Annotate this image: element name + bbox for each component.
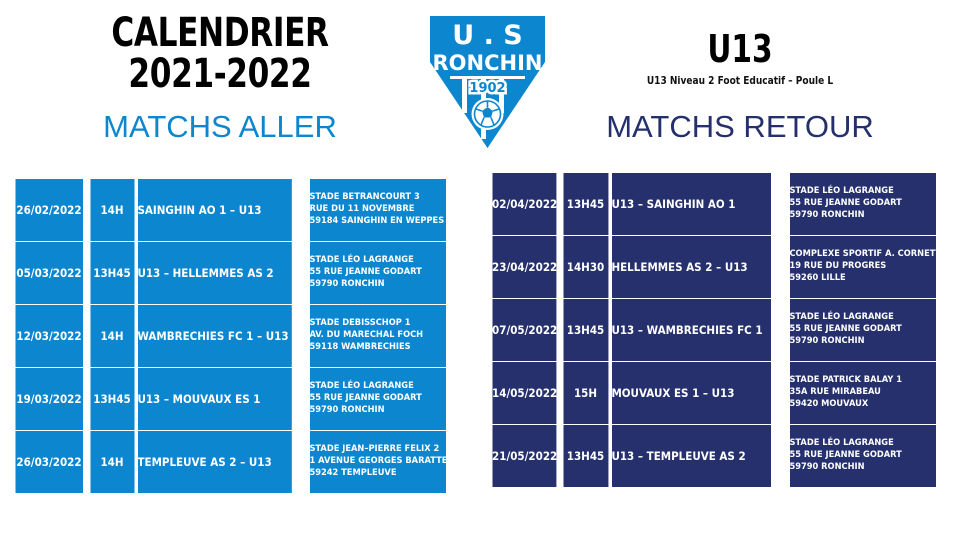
matchs-aller-table: 26/02/202214HSAINGHIN AO 1 – U13STADE BE… [10, 178, 458, 494]
match-time: 14H30 [562, 236, 608, 299]
match-fixture: U13 – TEMPLEUVE AS 2 [611, 425, 771, 488]
match-venue: STADE PATRICK BALAY 135A RUE MIRABEAU594… [789, 362, 936, 425]
match-venue: STADE BETRANCOURT 3RUE DU 11 NOVEMBRE591… [309, 179, 446, 242]
match-venue: STADE LÉO LAGRANGE55 RUE JEANNE GODART59… [789, 425, 936, 488]
match-venue: STADE DEBISSCHOP 1AV. DU MARECHAL FOCH59… [309, 305, 446, 368]
venue-line: STADE PATRICK BALAY 1 [789, 375, 935, 387]
match-date: 21/05/2022 [491, 425, 556, 488]
venue-line: 55 RUE JEANNE GODART [789, 450, 935, 462]
match-venue: STADE LÉO LAGRANGE55 RUE JEANNE GODART59… [789, 173, 936, 236]
match-venue: STADE LÉO LAGRANGE55 RUE JEANNE GODART59… [789, 299, 936, 362]
venue-line: 59184 SAINGHIN EN WEPPES [309, 216, 445, 228]
venue-line: STADE LÉO LAGRANGE [789, 312, 935, 324]
left-header-block: CALENDRIER 2021-2022 MATCHS ALLER [10, 14, 430, 145]
venue-line: STADE LÉO LAGRANGE [309, 381, 445, 393]
section-heading-retour: MATCHS RETOUR [530, 109, 950, 145]
venue-line: 35A RUE MIRABEAU [789, 387, 935, 399]
match-fixture: HELLEMMES AS 2 – U13 [611, 236, 771, 299]
right-header-block: U13 U13 Niveau 2 Foot Educatif – Poule L… [530, 30, 950, 145]
venue-line: STADE JEAN–PIERRE FELIX 2 [309, 444, 445, 456]
match-fixture: SAINGHIN AO 1 – U13 [137, 179, 292, 242]
venue-line: 59242 TEMPLEUVE [309, 468, 445, 480]
matchs-aller-body: 26/02/202214HSAINGHIN AO 1 – U13STADE BE… [11, 179, 458, 494]
match-date: 26/02/2022 [14, 179, 82, 242]
table-row: 26/02/202214HSAINGHIN AO 1 – U13STADE BE… [11, 179, 458, 242]
svg-text:RONCHIN: RONCHIN [433, 51, 543, 75]
page-header: CALENDRIER 2021-2022 MATCHS ALLER U . S … [0, 0, 960, 175]
table-row: 21/05/202213H45U13 – TEMPLEUVE AS 2STADE… [488, 425, 949, 488]
match-date: 05/03/2022 [14, 242, 82, 305]
match-time: 15H [562, 362, 608, 425]
match-time: 13H45 [89, 242, 134, 305]
svg-text:U . S: U . S [452, 20, 522, 51]
table-row: 07/05/202213H45U13 – WAMBRECHIES FC 1STA… [488, 299, 949, 362]
match-time: 13H45 [562, 173, 608, 236]
table-row: 02/04/202213H45U13 – SAINGHIN AO 1STADE … [488, 173, 949, 236]
venue-line: STADE BETRANCOURT 3 [309, 192, 445, 204]
venue-line: AV. DU MARECHAL FOCH [309, 330, 445, 342]
table-row: 14/05/202215HMOUVAUX ES 1 – U13STADE PAT… [488, 362, 949, 425]
match-fixture: U13 – HELLEMMES AS 2 [137, 242, 292, 305]
matchs-retour-body: 02/04/202213H45U13 – SAINGHIN AO 1STADE … [488, 173, 949, 488]
match-date: 02/04/2022 [491, 173, 556, 236]
match-fixture: MOUVAUX ES 1 – U13 [611, 362, 771, 425]
venue-line: 59118 WAMBRECHIES [309, 342, 445, 354]
match-time: 13H45 [89, 368, 134, 431]
table-row: 05/03/202213H45U13 – HELLEMMES AS 2STADE… [11, 242, 458, 305]
soccer-ball-icon [472, 98, 504, 130]
svg-text:1902: 1902 [469, 81, 505, 96]
venue-line: STADE LÉO LAGRANGE [789, 186, 935, 198]
venue-line: 59790 RONCHIN [789, 210, 935, 222]
venue-line: 55 RUE JEANNE GODART [789, 198, 935, 210]
venue-line: 59790 RONCHIN [309, 405, 445, 417]
match-venue: STADE LÉO LAGRANGE55 RUE JEANNE GODART59… [309, 368, 446, 431]
venue-line: RUE DU 11 NOVEMBRE [309, 204, 445, 216]
match-date: 23/04/2022 [491, 236, 556, 299]
venue-line: 55 RUE JEANNE GODART [309, 393, 445, 405]
venue-line: STADE LÉO LAGRANGE [309, 255, 445, 267]
match-date: 07/05/2022 [491, 299, 556, 362]
venue-line: 59790 RONCHIN [789, 462, 935, 474]
match-fixture: U13 – SAINGHIN AO 1 [611, 173, 771, 236]
venue-line: 59790 RONCHIN [789, 336, 935, 348]
venue-line: STADE DEBISSCHOP 1 [309, 318, 445, 330]
match-time: 14H [89, 431, 134, 494]
match-date: 26/03/2022 [14, 431, 82, 494]
match-date: 14/05/2022 [491, 362, 556, 425]
venue-line: 55 RUE JEANNE GODART [309, 267, 445, 279]
table-row: 19/03/202213H45U13 – MOUVAUX ES 1STADE L… [11, 368, 458, 431]
match-venue: COMPLEXE SPORTIF A. CORNETTE 219 RUE DU … [789, 236, 936, 299]
match-venue: STADE LÉO LAGRANGE55 RUE JEANNE GODART59… [309, 242, 446, 305]
matchs-retour-table: 02/04/202213H45U13 – SAINGHIN AO 1STADE … [487, 172, 949, 488]
venue-line: 55 RUE JEANNE GODART [789, 324, 935, 336]
match-venue: STADE JEAN–PIERRE FELIX 21 AVENUE GEORGE… [309, 431, 446, 494]
venue-line: STADE LÉO LAGRANGE [789, 438, 935, 450]
match-date: 12/03/2022 [14, 305, 82, 368]
match-time: 14H [89, 305, 134, 368]
table-row: 26/03/202214HTEMPLEUVE AS 2 – U13STADE J… [11, 431, 458, 494]
category-subtitle: U13 Niveau 2 Foot Educatif – Poule L [568, 74, 912, 87]
match-time: 13H45 [562, 299, 608, 362]
logo-year: 1902 [469, 81, 505, 96]
category-title: U13 [576, 30, 904, 68]
match-fixture: U13 – WAMBRECHIES FC 1 [611, 299, 771, 362]
page-title-season: 2021-2022 [56, 53, 384, 95]
match-fixture: U13 – MOUVAUX ES 1 [137, 368, 292, 431]
match-fixture: TEMPLEUVE AS 2 – U13 [137, 431, 292, 494]
venue-line: 19 RUE DU PROGRES [789, 261, 935, 273]
match-fixture: WAMBRECHIES FC 1 – U13 [137, 305, 292, 368]
table-row: 23/04/202214H30HELLEMMES AS 2 – U13COMPL… [488, 236, 949, 299]
venue-line: 1 AVENUE GEORGES BARATTE [309, 456, 445, 468]
table-row: 12/03/202214HWAMBRECHIES FC 1 – U13STADE… [11, 305, 458, 368]
match-time: 14H [89, 179, 134, 242]
match-date: 19/03/2022 [14, 368, 82, 431]
venue-line: COMPLEXE SPORTIF A. CORNETTE 2 [789, 249, 935, 261]
match-time: 13H45 [562, 425, 608, 488]
section-heading-aller: MATCHS ALLER [10, 109, 430, 145]
venue-line: 59260 LILLE [789, 273, 935, 285]
venue-line: 59420 MOUVAUX [789, 399, 935, 411]
page-title: CALENDRIER [56, 14, 384, 53]
venue-line: 59790 RONCHIN [309, 279, 445, 291]
